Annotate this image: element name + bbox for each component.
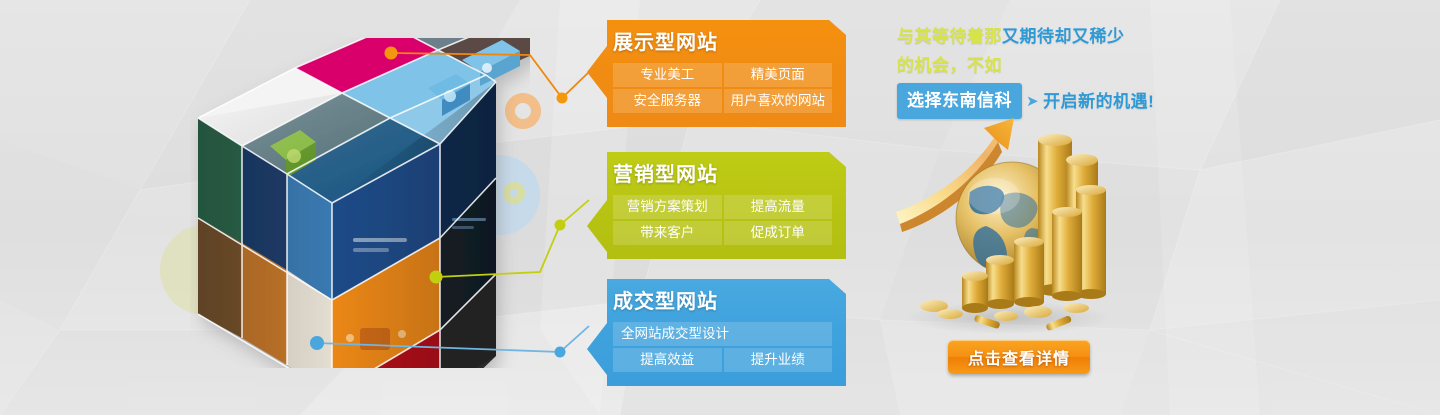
promo-banner: 展示型网站 专业美工 精美页面 安全服务器 用户喜欢的网站 营销型网站 营销方案… xyxy=(0,0,1440,415)
panel-deal-title: 成交型网站 xyxy=(613,291,832,313)
headline-segment-green-2: 的机会，不如 xyxy=(897,56,1002,75)
panel-display-rows: 专业美工 精美页面 安全服务器 用户喜欢的网站 xyxy=(613,63,832,113)
panel-marketing-website[interactable]: 营销型网站 营销方案策划 提高流量 带来客户 促成订单 xyxy=(587,152,846,259)
headline-line-1: 与其等待着那又期待却又稀少 xyxy=(897,22,1167,51)
panel-deal-rows: 全网站成交型设计 提高效益 提升业绩 xyxy=(613,322,832,372)
panel-row: 带来客户 促成订单 xyxy=(613,221,832,245)
panel-cell[interactable]: 营销方案策划 xyxy=(613,195,722,219)
panel-display-title: 展示型网站 xyxy=(613,32,832,54)
panel-deal-website[interactable]: 成交型网站 全网站成交型设计 提高效益 提升业绩 xyxy=(587,279,846,386)
panel-cell[interactable]: 安全服务器 xyxy=(613,89,722,113)
photo-collage-cube xyxy=(190,38,530,368)
headline-segment-blue: 又期待却又稀少 xyxy=(1002,27,1125,46)
panel-row: 全网站成交型设计 xyxy=(613,322,832,346)
panel-row: 专业美工 精美页面 xyxy=(613,63,832,87)
panel-cell[interactable]: 提高效益 xyxy=(613,348,722,372)
panel-cell[interactable]: 提升业绩 xyxy=(724,348,833,372)
panel-marketing-rows: 营销方案策划 提高流量 带来客户 促成订单 xyxy=(613,195,832,245)
panel-row: 安全服务器 用户喜欢的网站 xyxy=(613,89,832,113)
panel-cell[interactable]: 精美页面 xyxy=(724,63,833,87)
view-details-button[interactable]: 点击查看详情 xyxy=(948,340,1090,374)
globe-coins-illustration xyxy=(890,100,1120,335)
panel-cell[interactable]: 带来客户 xyxy=(613,221,722,245)
panel-marketing-title: 营销型网站 xyxy=(613,164,832,186)
panel-display-website[interactable]: 展示型网站 专业美工 精美页面 安全服务器 用户喜欢的网站 xyxy=(587,20,846,127)
panel-cell[interactable]: 提高流量 xyxy=(724,195,833,219)
panel-row: 提高效益 提升业绩 xyxy=(613,348,832,372)
panel-cell[interactable]: 全网站成交型设计 xyxy=(613,322,832,346)
headline-segment-green: 与其等待着那 xyxy=(897,27,1002,46)
panel-cell[interactable]: 促成订单 xyxy=(724,221,833,245)
panel-cell[interactable]: 用户喜欢的网站 xyxy=(724,89,833,113)
headline-line-2: 的机会，不如 xyxy=(897,51,1167,80)
panel-cell[interactable]: 专业美工 xyxy=(613,63,722,87)
panel-row: 营销方案策划 提高流量 xyxy=(613,195,832,219)
